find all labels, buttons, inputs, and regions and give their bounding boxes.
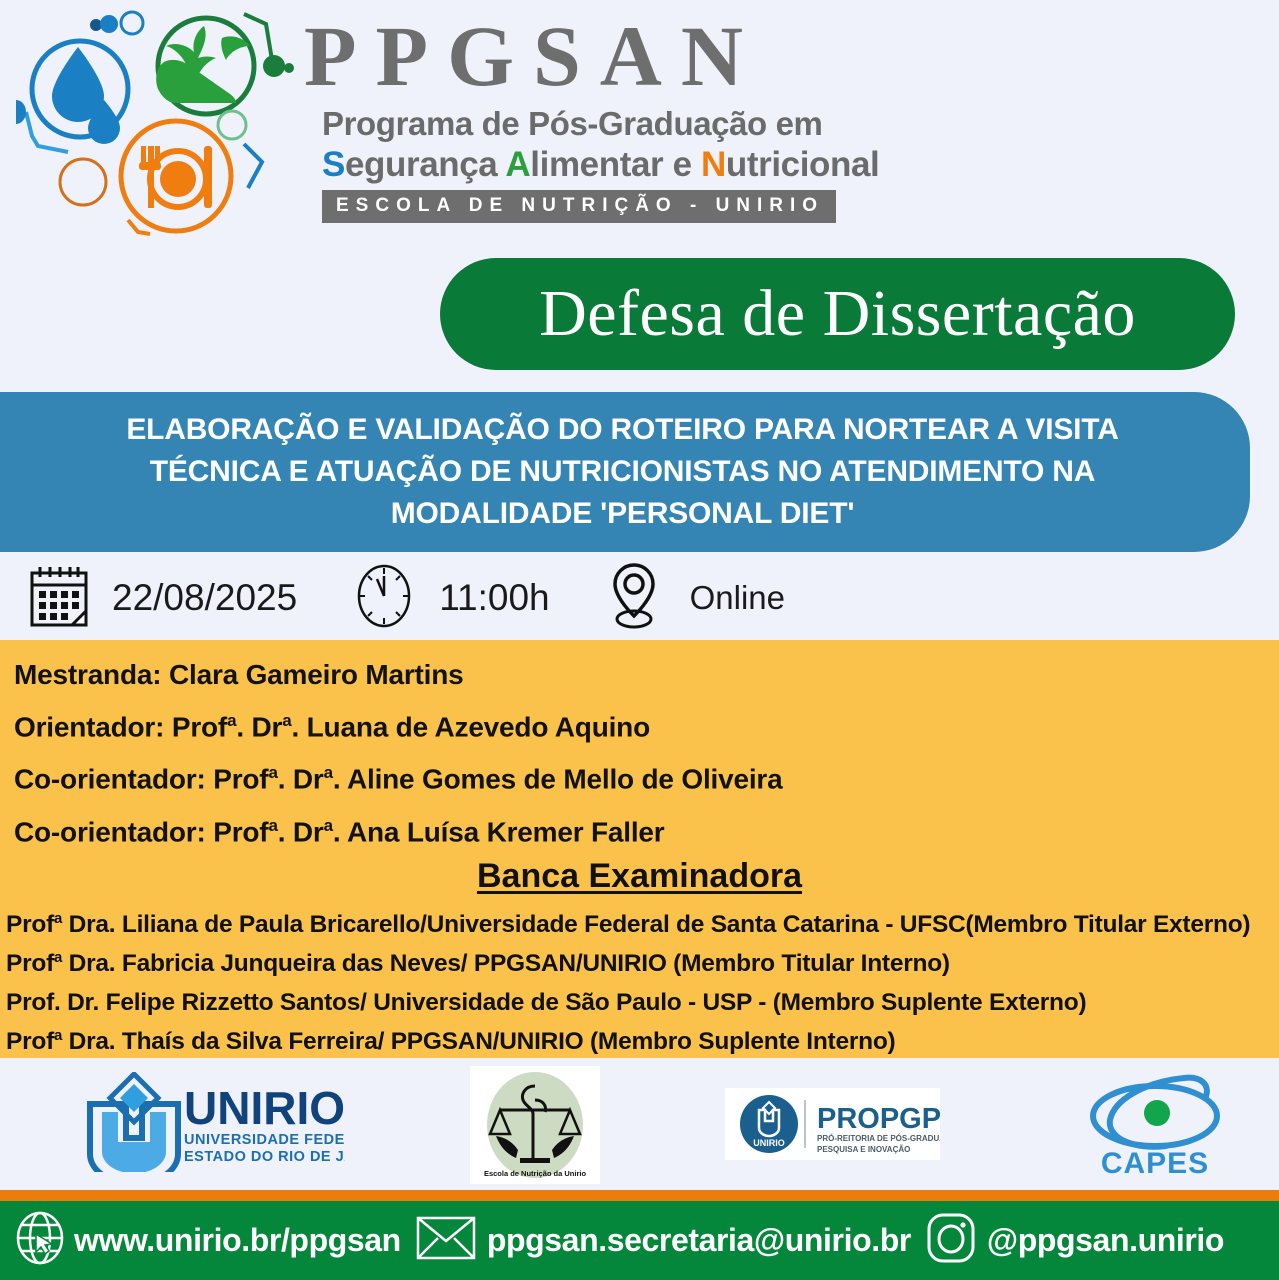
poster-root: PPGSAN Programa de Pós-Graduação em Segu… — [0, 0, 1279, 1280]
location-pin-icon — [606, 561, 662, 636]
title-middle: . Dr — [278, 764, 324, 795]
person-name: Clara Gameiro Martins — [169, 659, 464, 690]
svg-text:ESTADO DO RIO DE JANEIRO: ESTADO DO RIO DE JANEIRO — [184, 1149, 345, 1165]
board-member-4: Profa Dra. Thaís da Silva Ferreira/ PPGS… — [6, 1019, 1271, 1058]
title-prefix: Prof — [172, 711, 227, 742]
instagram-icon — [925, 1210, 977, 1271]
event-time: 11:00h — [439, 577, 549, 619]
seg-s: S — [322, 145, 345, 184]
title-prefix: Prof — [213, 816, 268, 847]
time-item: 11:00h — [297, 563, 549, 634]
member-sup: a — [54, 910, 62, 927]
event-date: 22/08/2025 — [112, 577, 297, 619]
svg-text:PRÓ-REITORIA DE PÓS-GRADUAÇÃO,: PRÓ-REITORIA DE PÓS-GRADUAÇÃO, — [817, 1134, 940, 1143]
unirio-title: UNIRIO — [184, 1082, 345, 1134]
website-text: www.unirio.br/ppgsan — [74, 1222, 401, 1259]
title-prefix: Prof — [213, 764, 268, 795]
thesis-title-block: ELABORAÇÃO E VALIDAÇÃO DO ROTEIRO PARA N… — [0, 392, 1250, 552]
propgpi-logo: UNIRIO PROPGPI PRÓ-REITORIA DE PÓS-GRADU… — [725, 1088, 940, 1160]
role-label: Mestranda: — [14, 659, 161, 690]
title-sup: a — [268, 816, 277, 835]
ppgsan-acronym: PPGSAN — [304, 8, 860, 104]
website-contact[interactable]: www.unirio.br/ppgsan — [14, 1210, 401, 1271]
email-text: ppgsan.secretaria@unirio.br — [487, 1222, 911, 1259]
member-sup: a — [54, 1027, 62, 1044]
location-item: Online — [550, 561, 785, 636]
member-sup: a — [54, 949, 62, 966]
ppgsan-emblem-icon — [8, 4, 300, 244]
seg-a: A — [505, 145, 530, 184]
title-sup: a — [268, 763, 277, 782]
capes-logo: CAPES — [1080, 1068, 1230, 1183]
event-location: Online — [690, 579, 785, 617]
title-line-2: TÉCNICA E ATUAÇÃO DE NUTRICIONISTAS NO A… — [43, 451, 1203, 493]
board-members-list: Profa Dra. Liliana de Paula Bricarello/U… — [0, 902, 1279, 1059]
member-prefix: Prof — [6, 950, 54, 977]
member-detail: . Dr. Felipe Rizzetto Santos/ Universida… — [54, 989, 1086, 1016]
role-label: Orientador: — [14, 711, 164, 742]
event-type-label: Defesa de Dissertação — [539, 276, 1136, 352]
board-member-1: Profa Dra. Liliana de Paula Bricarello/U… — [6, 902, 1271, 941]
svg-text:PESQUISA E INOVAÇÃO: PESQUISA E INOVAÇÃO — [817, 1145, 910, 1154]
seg-limentar: limentar e — [530, 145, 701, 184]
instagram-text: @ppgsan.unirio — [987, 1222, 1224, 1259]
seg-utricional: utricional — [726, 145, 880, 184]
title-sup: a — [324, 763, 333, 782]
participants-panel: Mestranda: Clara Gameiro Martins Orienta… — [0, 640, 1279, 1058]
person-name: . Luana de Azevedo Aquino — [291, 711, 650, 742]
person-name: . Aline Gomes de Mello de Oliveira — [333, 764, 783, 795]
title-line-3: MODALIDADE 'PERSONAL DIET' — [43, 493, 1203, 535]
svg-text:Escola de Nutrição da Unirio: Escola de Nutrição da Unirio — [484, 1169, 587, 1178]
escola-nutricao-logo: Escola de Nutrição da Unirio — [470, 1066, 600, 1184]
board-member-3: Prof. Dr. Felipe Rizzetto Santos/ Univer… — [6, 980, 1271, 1019]
globe-icon — [14, 1210, 66, 1271]
event-meta-row: 22/08/2025 11:00h — [0, 556, 1279, 640]
member-prefix: Prof — [6, 911, 54, 938]
list-item-coorientador-2: Co-orientador: Profa. Dra. Ana Luísa Kre… — [14, 803, 1279, 855]
program-line: Programa de Pós-Graduação em — [322, 104, 860, 144]
svg-text:PROPGPI: PROPGPI — [817, 1103, 940, 1135]
member-prefix: Prof — [6, 989, 54, 1016]
title-middle: . Dr — [278, 816, 324, 847]
member-detail: Dra. Fabricia Junqueira das Neves/ PPGSA… — [62, 950, 950, 977]
sponsor-logos-strip: UNIRIO UNIVERSIDADE FEDERAL DO ESTADO DO… — [0, 1058, 1279, 1190]
person-name: . Ana Luísa Kremer Faller — [333, 816, 665, 847]
ppgsan-wordmark: PPGSAN Programa de Pós-Graduação em Segu… — [300, 8, 860, 238]
list-item-coorientador-1: Co-orientador: Profa. Dra. Aline Gomes d… — [14, 750, 1279, 802]
poster-header: PPGSAN Programa de Pós-Graduação em Segu… — [0, 0, 1279, 248]
instagram-contact[interactable]: @ppgsan.unirio — [925, 1210, 1224, 1271]
unirio-logo: UNIRIO UNIVERSIDADE FEDERAL DO ESTADO DO… — [80, 1072, 345, 1172]
svg-text:UNIRIO: UNIRIO — [753, 1138, 785, 1148]
list-item-mestranda: Mestranda: Clara Gameiro Martins — [14, 652, 1279, 698]
title-sup: a — [227, 711, 236, 730]
people-list: Mestranda: Clara Gameiro Martins Orienta… — [0, 640, 1279, 855]
email-contact[interactable]: ppgsan.secretaria@unirio.br — [415, 1212, 911, 1269]
board-heading: Banca Examinadora — [0, 857, 1279, 896]
svg-text:UNIVERSIDADE FEDERAL DO: UNIVERSIDADE FEDERAL DO — [184, 1132, 345, 1148]
title-middle: . Dr — [236, 711, 282, 742]
member-detail: Dra. Liliana de Paula Bricarello/Univers… — [62, 911, 1250, 938]
board-member-2: Profa Dra. Fabricia Junqueira das Neves/… — [6, 941, 1271, 980]
school-bar-label: ESCOLA DE NUTRIÇÃO - UNIRIO — [322, 190, 836, 223]
date-item: 22/08/2025 — [0, 563, 297, 634]
member-detail: Dra. Thaís da Silva Ferreira/ PPGSAN/UNI… — [62, 1029, 895, 1056]
title-sup: a — [324, 816, 333, 835]
clock-icon — [355, 563, 413, 634]
thesis-title: ELABORAÇÃO E VALIDAÇÃO DO ROTEIRO PARA N… — [43, 409, 1203, 535]
title-line-1: ELABORAÇÃO E VALIDAÇÃO DO ROTEIRO PARA N… — [43, 409, 1203, 451]
seg-eguranca: egurança — [345, 145, 505, 184]
seguranca-line: Segurança Alimentar e Nutricional — [322, 144, 860, 186]
role-label: Co-orientador: — [14, 764, 206, 795]
orange-divider — [0, 1190, 1279, 1201]
member-prefix: Prof — [6, 1029, 54, 1056]
event-type-banner: Defesa de Dissertação — [440, 258, 1235, 370]
role-label: Co-orientador: — [14, 816, 206, 847]
svg-text:CAPES: CAPES — [1101, 1147, 1209, 1180]
calendar-icon — [28, 563, 90, 634]
seg-n: N — [701, 145, 726, 184]
list-item-orientador: Orientador: Profa. Dra. Luana de Azevedo… — [14, 698, 1279, 750]
contact-footer: www.unirio.br/ppgsan ppgsan.secretaria@u… — [0, 1201, 1279, 1280]
envelope-icon — [415, 1212, 477, 1269]
